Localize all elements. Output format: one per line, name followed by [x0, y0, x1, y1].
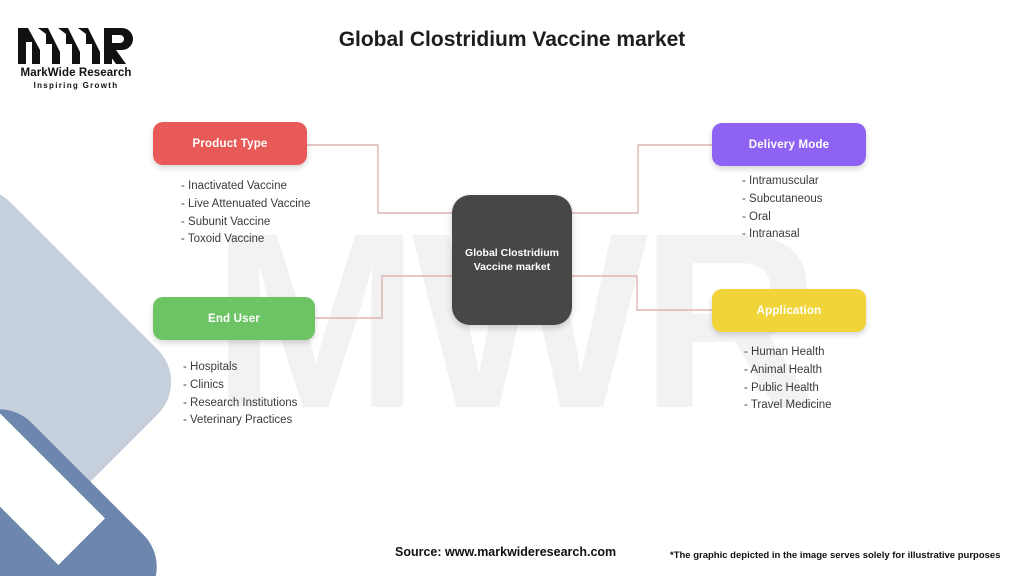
- branch-pill-product-type[interactable]: Product Type: [153, 122, 307, 165]
- list-item: - Subunit Vaccine: [181, 214, 311, 232]
- center-node-line2: Vaccine market: [474, 261, 550, 273]
- list-item: - Human Health: [744, 344, 832, 362]
- list-item: - Hospitals: [183, 359, 297, 377]
- branch-label-delivery-mode: Delivery Mode: [749, 139, 830, 151]
- list-item: - Travel Medicine: [744, 397, 832, 415]
- list-item: - Research Institutions: [183, 395, 297, 413]
- center-node[interactable]: Global Clostridium Vaccine market: [452, 195, 572, 325]
- list-item: - Toxoid Vaccine: [181, 231, 311, 249]
- list-item: - Veterinary Practices: [183, 412, 297, 430]
- list-item: - Oral: [742, 209, 823, 227]
- branch-label-application: Application: [757, 305, 822, 317]
- list-item: - Clinics: [183, 377, 297, 395]
- branch-pill-application[interactable]: Application: [712, 289, 866, 332]
- list-item: - Inactivated Vaccine: [181, 178, 311, 196]
- branch-items-end-user: - Hospitals - Clinics - Research Institu…: [183, 359, 297, 430]
- logo-tagline: Inspiring Growth: [16, 81, 136, 90]
- list-item: - Intranasal: [742, 226, 823, 244]
- infographic-canvas: MWR MarkWide Research Inspiring Growth G…: [0, 0, 1024, 576]
- source-text: Source: www.markwideresearch.com: [395, 545, 616, 559]
- list-item: - Public Health: [744, 380, 832, 398]
- list-item: - Subcutaneous: [742, 191, 823, 209]
- branch-label-end-user: End User: [208, 313, 260, 325]
- disclaimer-text: *The graphic depicted in the image serve…: [670, 550, 1001, 561]
- branch-items-delivery-mode: - Intramuscular - Subcutaneous - Oral - …: [742, 173, 823, 244]
- list-item: - Animal Health: [744, 362, 832, 380]
- list-item: - Intramuscular: [742, 173, 823, 191]
- branch-items-product-type: - Inactivated Vaccine - Live Attenuated …: [181, 178, 311, 249]
- branch-label-product-type: Product Type: [192, 138, 267, 150]
- branch-pill-delivery-mode[interactable]: Delivery Mode: [712, 123, 866, 166]
- center-node-line1: Global Clostridium: [465, 247, 559, 259]
- branch-pill-end-user[interactable]: End User: [153, 297, 315, 340]
- logo-company-name: MarkWide Research: [16, 67, 136, 79]
- branch-items-application: - Human Health - Animal Health - Public …: [744, 344, 832, 415]
- page-title: Global Clostridium Vaccine market: [0, 28, 1024, 52]
- list-item: - Live Attenuated Vaccine: [181, 196, 311, 214]
- center-node-label: Global Clostridium Vaccine market: [457, 246, 567, 274]
